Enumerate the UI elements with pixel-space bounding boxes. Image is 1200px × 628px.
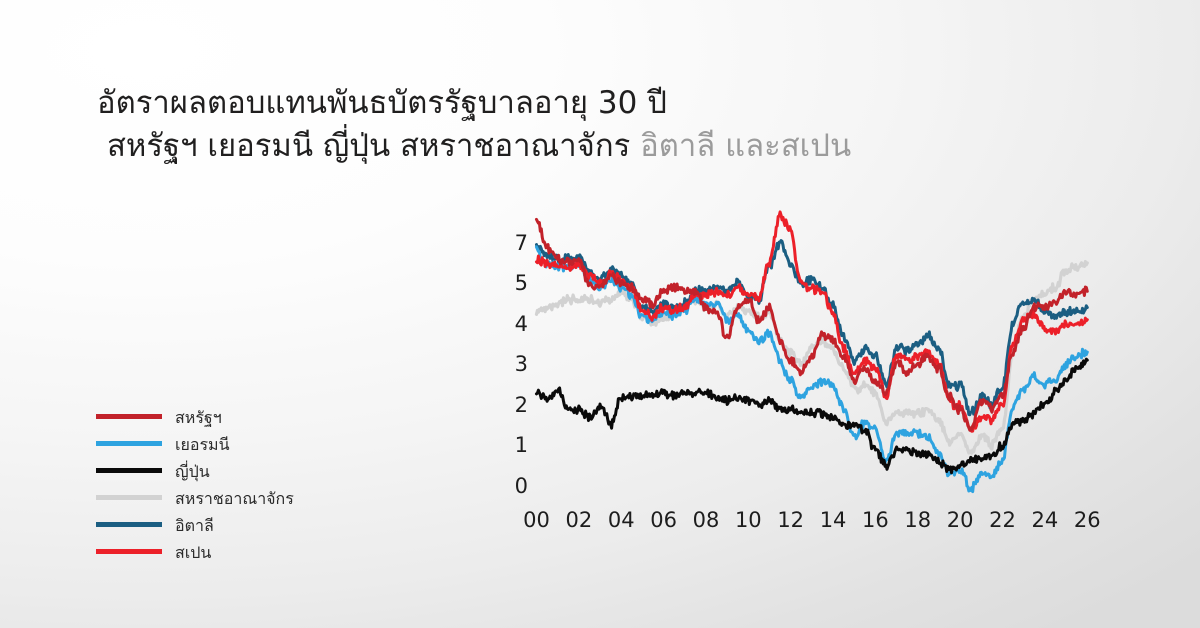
legend-item: สหราชอาณาจักร [96,484,294,511]
y-axis-tick-label: 1 [498,433,528,457]
y-axis-tick-label: 2 [498,393,528,417]
y-axis-tick-label: 4 [498,312,528,336]
line-chart: 7543210 0002040608101214161820222426 [500,190,1100,560]
page-title-line-2-dim: อิตาลี และสเปน [640,128,851,164]
legend-item: สเปน [96,538,294,565]
y-axis-tick-label: 7 [498,231,528,255]
x-axis-tick-label: 02 [565,508,592,532]
x-axis-tick-label: 04 [608,508,635,532]
legend-label-japan: ญี่ปุ่น [175,464,210,480]
legend-swatch-spain [96,549,162,554]
x-axis-tick-label: 08 [693,508,720,532]
legend-label-uk: สหราชอาณาจักร [175,491,294,507]
x-axis-tick-label: 06 [650,508,677,532]
chart-plot-area [528,190,1100,500]
legend-label-germany: เยอรมนี [175,437,230,453]
x-axis-tick-label: 14 [820,508,847,532]
legend-item: อิตาลี [96,511,294,538]
legend-item: สหรัฐฯ [96,403,294,430]
chart-title-block: อัตราผลตอบแทนพันธบัตรรัฐบาลอายุ 30 ปี สห… [97,82,977,168]
legend-swatch-italy [96,522,162,527]
page-root: อัตราผลตอบแทนพันธบัตรรัฐบาลอายุ 30 ปี สห… [0,0,1200,628]
x-axis-tick-label: 16 [862,508,889,532]
page-title-line-2: สหรัฐฯ เยอรมนี ญี่ปุ่น สหราชอาณาจักร อิต… [97,125,977,168]
x-axis-tick-label: 00 [523,508,550,532]
page-title-line-2-main: สหรัฐฯ เยอรมนี ญี่ปุ่น สหราชอาณาจักร [107,128,640,164]
legend-label-us: สหรัฐฯ [175,410,222,426]
legend-swatch-uk [96,495,162,500]
y-axis-tick-label: 5 [498,271,528,295]
legend-item: ญี่ปุ่น [96,457,294,484]
legend-label-italy: อิตาลี [175,518,214,534]
chart-legend: สหรัฐฯ เยอรมนี ญี่ปุ่น สหราชอาณาจักร อิต… [96,403,294,565]
legend-swatch-us [96,414,162,419]
x-axis-tick-label: 20 [947,508,974,532]
legend-swatch-germany [96,441,162,446]
x-axis-tick-label: 24 [1032,508,1059,532]
legend-item: เยอรมนี [96,430,294,457]
x-axis-tick-label: 18 [904,508,931,532]
x-axis-tick-label: 12 [777,508,804,532]
page-title-line-1: อัตราผลตอบแทนพันธบัตรรัฐบาลอายุ 30 ปี [97,82,977,125]
x-axis-tick-label: 10 [735,508,762,532]
legend-swatch-japan [96,468,162,473]
y-axis-tick-label: 3 [498,352,528,376]
legend-label-spain: สเปน [175,545,211,561]
x-axis-tick-label: 22 [989,508,1016,532]
y-axis-tick-label: 0 [498,474,528,498]
x-axis-tick-label: 26 [1074,508,1101,532]
